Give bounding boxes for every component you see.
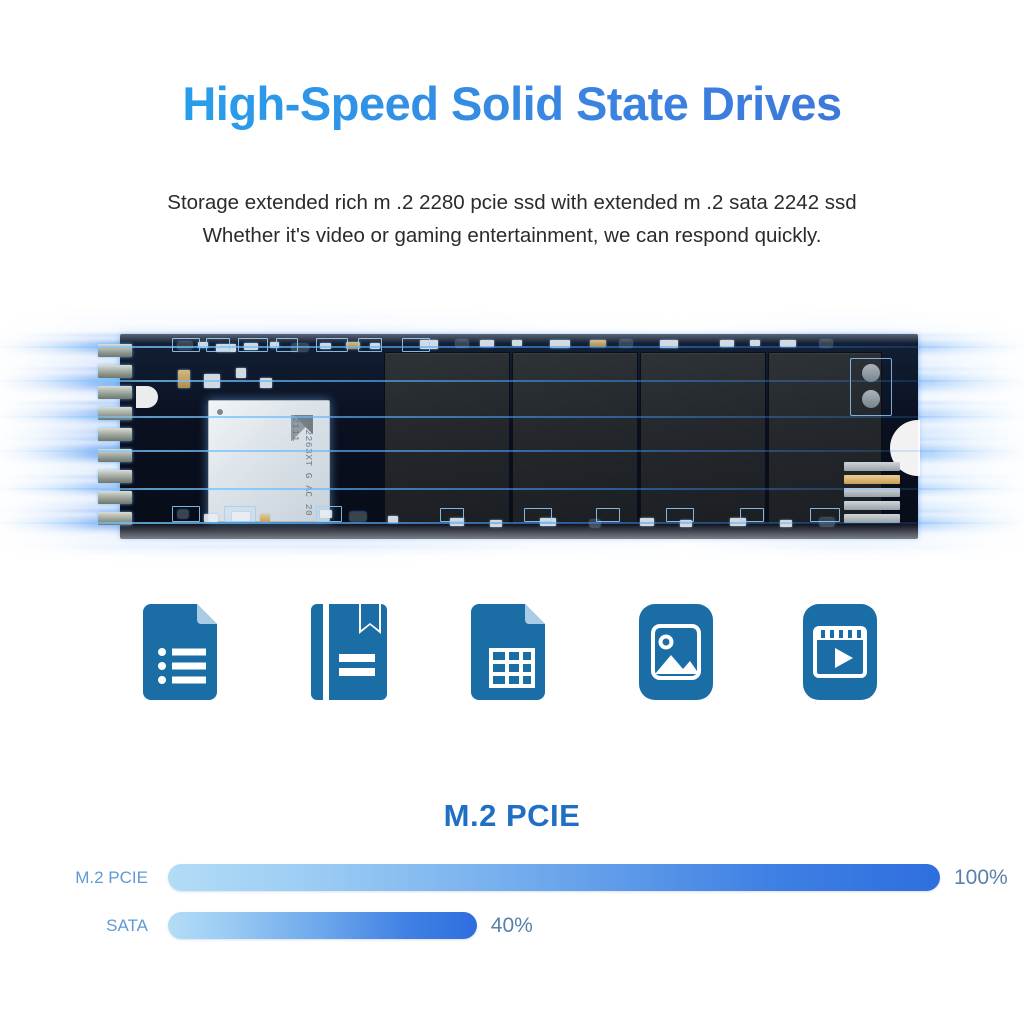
bar-fill (168, 864, 940, 891)
video-film-icon[interactable] (799, 604, 881, 700)
bar-fill (168, 912, 477, 939)
bar-label: SATA (0, 916, 148, 936)
page-title: High-Speed Solid State Drives (0, 76, 1024, 131)
book-bookmark-icon[interactable] (307, 604, 389, 700)
bar-label: M.2 PCIE (0, 868, 148, 888)
subtitle-line-2: Whether it's video or gaming entertainme… (0, 219, 1024, 252)
image-photo-icon[interactable] (635, 604, 717, 700)
chart-title: M.2 PCIE (0, 798, 1024, 834)
subtitle-line-1: Storage extended rich m .2 2280 pcie ssd… (167, 191, 856, 214)
bar-track (168, 864, 940, 891)
spreadsheet-icon[interactable] (471, 604, 553, 700)
performance-bar-chart: M.2 PCIE 100% SATA 40% (0, 856, 1024, 952)
product-photo: SM2263XT G AC 20 2111 (0, 300, 1024, 572)
bar-value: 100% (954, 866, 1008, 890)
bar-row: M.2 PCIE 100% (0, 856, 1024, 904)
page-subtitle: Storage extended rich m .2 2280 pcie ssd… (0, 186, 1024, 252)
photo-horizontal-fade (0, 300, 1024, 572)
file-type-icon-row (0, 596, 1024, 708)
document-list-icon[interactable] (143, 604, 225, 700)
bar-track (168, 912, 940, 939)
bar-value: 40% (491, 914, 533, 938)
bar-row: SATA 40% (0, 904, 1024, 952)
